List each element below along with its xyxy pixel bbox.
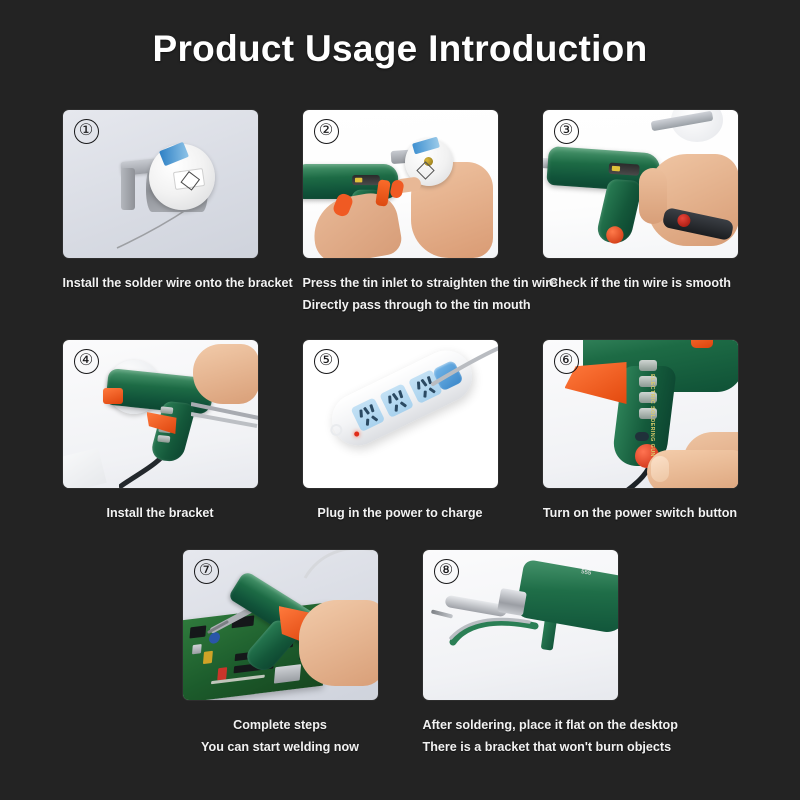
caption-line-1: Check if the tin wire is smooth <box>549 276 731 290</box>
step-number-badge: ③ <box>554 119 579 144</box>
caption-line-2: You can start welding now <box>183 736 378 758</box>
status-led <box>635 432 649 441</box>
product-usage-infographic: Product Usage Introduction <box>0 0 800 800</box>
step-image-3: ③ <box>543 110 738 258</box>
step-card-1: ① Install the solder wire onto the brack… <box>63 110 258 316</box>
step-image-4: ④ <box>63 340 258 488</box>
step-caption-7: Complete steps You can start welding now <box>183 714 378 758</box>
right-hand <box>299 600 378 686</box>
step-caption-3: Check if the tin wire is smooth <box>543 272 738 294</box>
solder-wire-strand-icon <box>303 550 375 580</box>
caption-line-2: Directly pass through to the tin mouth <box>303 294 498 316</box>
right-hand <box>193 344 258 404</box>
step-card-5: ⑤ Plug in the power to charge <box>303 340 498 524</box>
step-card-4: ④ Install the bracket <box>63 340 258 524</box>
caption-line-1: Complete steps <box>233 718 327 732</box>
soldering-tip <box>430 609 452 618</box>
caption-line-1: Install the bracket <box>106 506 213 520</box>
key <box>639 360 657 371</box>
caption-line-1: Press the tin inlet to straighten the ti… <box>303 276 558 290</box>
power-cord-icon <box>431 346 498 386</box>
finger-knuckles <box>639 168 667 224</box>
step-caption-5: Plug in the power to charge <box>303 502 498 524</box>
step-card-8: 555 ⑧ After soldering, place it flat on … <box>423 550 618 758</box>
step-caption-4: Install the bracket <box>63 502 258 524</box>
nozzle-collar <box>497 588 527 616</box>
step-image-2: ② <box>303 110 498 258</box>
brand-text: ELECTRIC SOLDERING GUN <box>649 374 655 457</box>
steps-row-2: ④ Install the bracket <box>0 340 800 524</box>
solder-wire-strand-icon <box>111 206 195 250</box>
step-number-badge: ⑥ <box>554 349 579 374</box>
steps-row-3: ⑦ Complete steps You can start welding n… <box>0 550 800 758</box>
step-number-badge: ① <box>74 119 99 144</box>
step-image-1: ① <box>63 110 258 258</box>
socket-1[interactable] <box>350 397 385 432</box>
index-finger <box>647 450 738 488</box>
caption-line-1: Install the solder wire onto the bracket <box>63 276 293 290</box>
step-card-7: ⑦ Complete steps You can start welding n… <box>183 550 378 758</box>
metal-rods-icon <box>191 402 258 428</box>
step-number-badge: ② <box>314 119 339 144</box>
steps-grid: ① Install the solder wire onto the brack… <box>0 110 800 758</box>
socket-2[interactable] <box>379 383 414 418</box>
step-card-3: ③ Check if the tin wire is smooth <box>543 110 738 316</box>
step-caption-1: Install the solder wire onto the bracket <box>63 272 258 294</box>
step-image-6: ELECTRIC SOLDERING GUN <box>543 340 738 488</box>
step-card-2: ② Press the tin inlet to straighten the … <box>303 110 498 316</box>
step-number-badge: ⑤ <box>314 349 339 374</box>
hang-hole <box>328 422 344 438</box>
step-caption-8: After soldering, place it flat on the de… <box>423 714 618 758</box>
bracket-post-icon <box>121 168 135 210</box>
caption-line-2: There is a bracket that won't burn objec… <box>423 736 618 758</box>
page-title: Product Usage Introduction <box>0 28 800 70</box>
key <box>157 435 170 443</box>
gun-window <box>608 162 639 175</box>
step-image-8: 555 ⑧ <box>423 550 618 700</box>
key <box>160 406 173 414</box>
step-card-6: ELECTRIC SOLDERING GUN <box>543 340 738 524</box>
power-indicator-led <box>353 431 360 438</box>
left-hand <box>308 189 404 258</box>
caption-line-1: After soldering, place it flat on the de… <box>423 718 678 732</box>
step-caption-2: Press the tin inlet to straighten the ti… <box>303 272 498 316</box>
gun-window <box>352 175 380 185</box>
step-number-badge: ⑦ <box>194 559 219 584</box>
step-image-7: ⑦ <box>183 550 378 700</box>
caption-line-1: Turn on the power switch button <box>543 506 737 520</box>
steps-row-1: ① Install the solder wire onto the brack… <box>0 110 800 316</box>
protective-bracket-icon <box>449 616 559 650</box>
step-caption-6: Turn on the power switch button <box>543 502 738 524</box>
caption-line-1: Plug in the power to charge <box>317 506 482 520</box>
paper-sheet <box>63 448 107 488</box>
step-number-badge: ④ <box>74 349 99 374</box>
step-image-5: ⑤ <box>303 340 498 488</box>
gun-feed-lever <box>103 388 123 404</box>
gun-feed-lever <box>691 340 713 348</box>
step-number-badge: ⑧ <box>434 559 459 584</box>
